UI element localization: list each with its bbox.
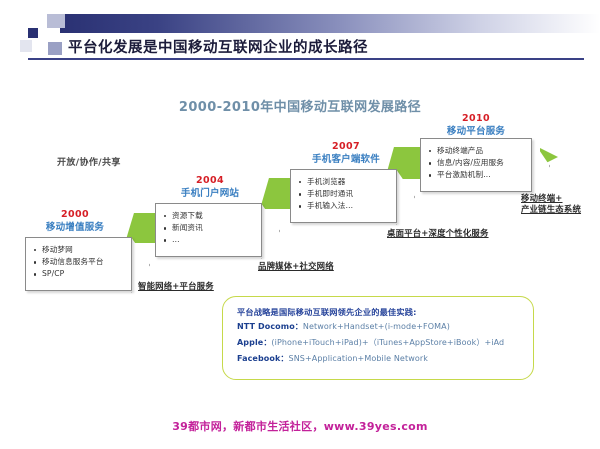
milestone-label-4-line2: 产业链生态系统 [521, 204, 581, 215]
detail-item: 平台激励机制… [428, 169, 525, 181]
best-practice-heading: 平台战略是国际移动互联网领先企业的最佳实践: [237, 305, 523, 319]
detail-item: 资源下载 [163, 210, 255, 222]
stage-caption-2004: 2004 手机门户网站 [150, 174, 270, 200]
stage-caption-2010: 2010 移动平台服务 [412, 112, 540, 138]
detail-item: SP/CP [33, 268, 125, 280]
detail-box-2007: 手机浏览器 手机即时通讯 手机输入法… [290, 169, 397, 223]
best-practice-detail: Network+Handset+(i-mode+FOMA) [303, 322, 450, 331]
best-practice-brand: NTT Docomo [237, 322, 295, 331]
stage-name-2010: 移动平台服务 [412, 125, 540, 138]
stage-year-2004: 2004 [150, 174, 270, 187]
stage-caption-2000: 2000 移动增值服务 [20, 208, 130, 234]
detail-item: 手机浏览器 [298, 176, 390, 188]
best-practice-brand: Apple [237, 338, 263, 347]
footer-credit: 39都市网，新都市生活社区，www.39yes.com [0, 418, 600, 434]
best-practice-sep: ： [280, 354, 288, 363]
detail-item: 新闻资讯 [163, 222, 255, 234]
detail-box-2000: 移动梦网 移动信息服务平台 SP/CP [25, 237, 132, 291]
slide-canvas: 平台化发展是中国移动互联网企业的成长路径 2000-2010年中国移动互联网发展… [0, 0, 600, 449]
detail-item: 手机输入法… [298, 200, 390, 212]
detail-item: 移动信息服务平台 [33, 256, 125, 268]
detail-box-2010: 移动终端产品 信息/内容/应用服务 平台激励机制… [420, 138, 532, 192]
detail-item: 手机即时通讯 [298, 188, 390, 200]
milestone-label-4: 移动终端+ 产业链生态系统 [521, 193, 581, 215]
detail-item: 信息/内容/应用服务 [428, 157, 525, 169]
milestone-label-4-line1: 移动终端+ [521, 193, 581, 204]
stage-name-2007: 手机客户端软件 [282, 153, 410, 166]
stage-caption-2007: 2007 手机客户端软件 [282, 140, 410, 166]
openness-label: 开放/协作/共享 [57, 155, 121, 168]
callout-notch-2004 [261, 203, 280, 259]
detail-item: 移动梦网 [33, 244, 125, 256]
header-gradient-band [60, 14, 600, 33]
best-practice-detail: (iPhone+iTouch+iPad)+（iTunes+AppStore+iB… [271, 338, 504, 347]
best-practice-detail: SNS+Application+Mobile Network [289, 354, 428, 363]
header-square-decoration-3 [20, 40, 32, 52]
header-divider [28, 58, 584, 60]
header-square-decoration-4 [48, 42, 62, 55]
best-practice-row: Facebook：SNS+Application+Mobile Network [237, 351, 523, 367]
stage-year-2007: 2007 [282, 140, 410, 153]
detail-item: … [163, 234, 255, 246]
detail-item: 移动终端产品 [428, 145, 525, 157]
milestone-label-3: 桌面平台+深度个性化服务 [387, 228, 489, 239]
best-practice-row: NTT Docomo：Network+Handset+(i-mode+FOMA) [237, 319, 523, 335]
header-square-decoration-1 [28, 28, 38, 38]
stage-name-2000: 移动增值服务 [20, 221, 130, 234]
page-title: 平台化发展是中国移动互联网企业的成长路径 [68, 36, 588, 58]
stage-year-2000: 2000 [20, 208, 130, 221]
best-practice-row: Apple：(iPhone+iTouch+iPad)+（iTunes+AppSt… [237, 335, 523, 351]
stage-name-2004: 手机门户网站 [150, 187, 270, 200]
stage-year-2010: 2010 [412, 112, 540, 125]
detail-box-2004: 资源下载 新闻资讯 … [155, 203, 262, 257]
best-practice-sep: ： [295, 322, 303, 331]
best-practice-box: 平台战略是国际移动互联网领先企业的最佳实践: NTT Docomo：Networ… [222, 296, 534, 380]
milestone-label-1: 智能网络+平台服务 [138, 281, 214, 292]
chart-title: 2000-2010年中国移动互联网发展路径 [150, 96, 450, 115]
best-practice-brand: Facebook [237, 354, 280, 363]
header-square-decoration-2 [47, 14, 65, 28]
callout-notch-2010 [531, 138, 550, 194]
milestone-label-2: 品牌媒体+社交网络 [258, 261, 334, 272]
